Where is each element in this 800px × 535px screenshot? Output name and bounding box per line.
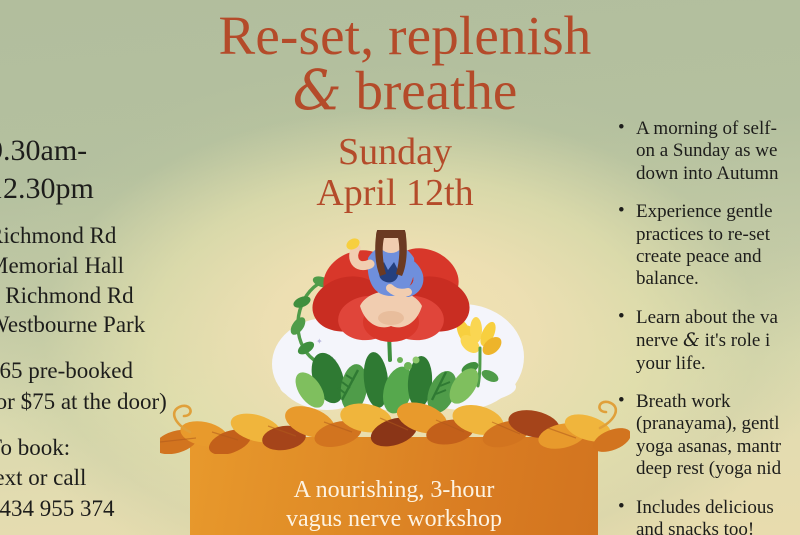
footer-line-1: A nourishing, 3-hour <box>190 476 598 505</box>
benefit-text: Includes deliciousand snacks too! <box>636 497 800 535</box>
benefit-line: A morning of self- <box>636 118 800 140</box>
title-line-2-text: breathe <box>342 60 518 121</box>
benefit-line: on a Sunday as we <box>636 140 800 162</box>
benefit-line: practices to re-set <box>636 224 800 246</box>
bullet-icon: • <box>618 496 625 518</box>
benefit-item: •A morning of self-on a Sunday as wedown… <box>618 118 800 185</box>
benefit-text: Breath work(pranayama), gentlyoga asanas… <box>636 391 800 481</box>
benefit-text: Learn about the vanerve & it's role iyou… <box>636 307 800 375</box>
benefit-item: •Experience gentlepractices to re-setcre… <box>618 201 800 291</box>
title-line-2: & breathe <box>140 62 670 119</box>
benefit-line: your life. <box>636 353 800 375</box>
date-line-2: April 12th <box>235 173 555 214</box>
event-details-column: 9.30am- 12.30pm Richmond Rd Memorial Hal… <box>0 132 218 524</box>
bullet-icon: • <box>618 200 625 222</box>
venue-address: Richmond Rd Memorial Hall 1 Richmond Rd … <box>0 221 218 341</box>
benefit-line: Includes delicious <box>636 497 800 519</box>
benefit-line: Breath work <box>636 391 800 413</box>
benefit-text: Experience gentlepractices to re-setcrea… <box>636 201 800 291</box>
benefit-line: down into Autumn <box>636 163 800 185</box>
phone-number[interactable]: 0434 955 374 <box>0 494 218 524</box>
date-line-1: Sunday <box>235 132 555 173</box>
booking-line-2: text or call <box>0 463 218 493</box>
footer-line-2: vagus nerve workshop <box>190 505 598 534</box>
venue-line-2: Memorial Hall <box>0 251 218 281</box>
autumn-leaf-band <box>160 398 630 454</box>
event-time-line-2: 12.30pm <box>0 170 218 208</box>
benefit-line: balance. <box>636 268 800 290</box>
benefit-line: deep rest (yoga nid <box>636 458 800 480</box>
footer-tagline: A nourishing, 3-hour vagus nerve worksho… <box>190 476 598 535</box>
bullet-icon: • <box>618 117 625 139</box>
benefit-line: Learn about the va <box>636 307 800 329</box>
event-time-line-1: 9.30am- <box>0 132 218 170</box>
benefit-line: yoga asanas, mantr <box>636 436 800 458</box>
venue-line-1: Richmond Rd <box>0 221 218 251</box>
benefit-item: •Learn about the vanerve & it's role iyo… <box>618 307 800 375</box>
bullet-icon: • <box>618 306 625 328</box>
benefit-item: •Breath work(pranayama), gentlyoga asana… <box>618 391 800 481</box>
benefit-line: nerve & it's role i <box>636 329 800 352</box>
benefit-line: and snacks too! <box>636 519 800 535</box>
venue-line-4: Westbourne Park <box>0 310 218 340</box>
poster-canvas: Re-set, replenish & breathe Sunday April… <box>0 0 800 535</box>
ampersand-glyph: & <box>683 329 700 351</box>
poster-title: Re-set, replenish & breathe <box>140 8 670 119</box>
benefits-list: •A morning of self-on a Sunday as wedown… <box>618 118 800 535</box>
benefit-line: Experience gentle <box>636 201 800 223</box>
ampersand-glyph: & <box>293 58 342 122</box>
benefit-text: A morning of self-on a Sunday as wedown … <box>636 118 800 185</box>
event-date: Sunday April 12th <box>235 132 555 214</box>
venue-line-3: 1 Richmond Rd <box>0 281 218 311</box>
benefit-line: create peace and <box>636 246 800 268</box>
title-line-1: Re-set, replenish <box>140 8 670 64</box>
benefit-item: •Includes deliciousand snacks too! <box>618 497 800 535</box>
benefit-line: (pranayama), gentl <box>636 413 800 435</box>
price-line-1: $65 pre-booked <box>0 356 218 386</box>
